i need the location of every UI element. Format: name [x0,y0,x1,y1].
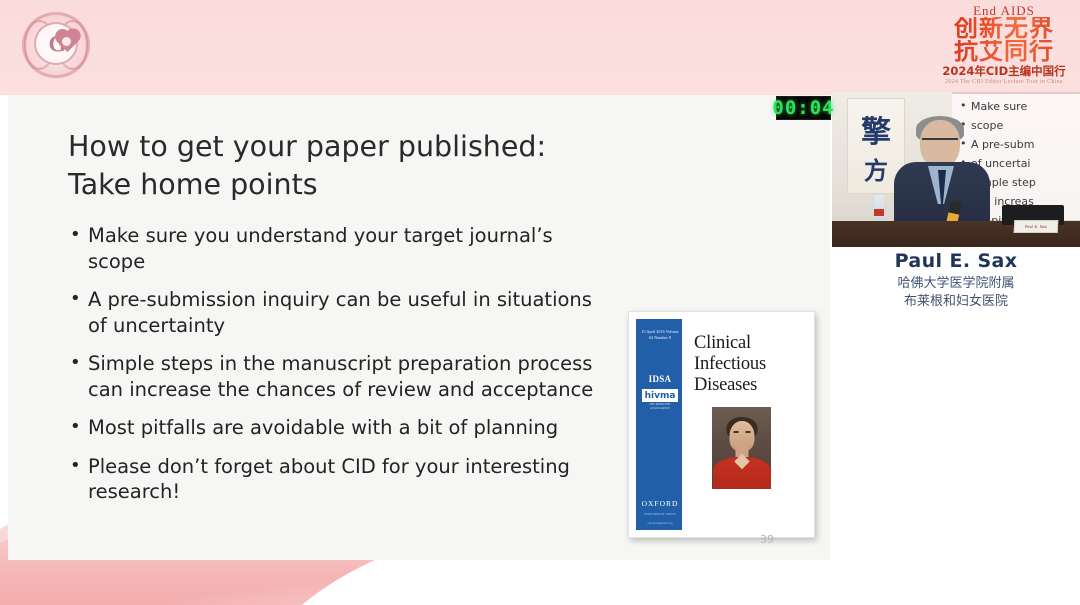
journal-cover-body: 15 April 2016 Volume 62 Number 8 IDSA hi… [636,319,807,530]
speaker-affiliation-line2: 布莱根和妇女医院 [832,293,1080,311]
oxford-logo-subtitle: UNIVERSITY PRESS [641,512,679,516]
journal-title-line1: Clinical [694,333,812,354]
slide-title: How to get your paper published: Take ho… [68,128,708,204]
speaker-video-feed[interactable]: 擎 方 Make sure scope A pre-subm of uncert… [832,92,1080,247]
journal-title-line3: Diseases [694,375,812,396]
journal-issue-info: 15 April 2016 Volume 62 Number 8 [641,329,679,340]
slide-bullet-list: Make sure you understand your target jou… [70,223,610,518]
idsa-logo-icon: IDSA [642,373,678,384]
hivma-logo-icon: hivma [642,389,678,402]
campaign-logo: End AIDS 创新无界 抗艾同行 2024年CID主编中国行 2024 Th… [934,4,1074,88]
journal-title: Clinical Infectious Diseases [694,333,812,396]
page-header: G End AIDS 创新无界 抗艾同行 2024年CID主编中国行 2024 … [0,0,1080,95]
countdown-timer-display: 00:04 [776,96,831,120]
journal-cover-spine: 15 April 2016 Volume 62 Number 8 IDSA hi… [636,319,682,530]
artwork-eyes [733,431,750,433]
journal-cover-artwork [712,407,771,489]
projected-bullet-item: Make sure [960,100,1080,114]
slide-title-line1: How to get your paper published: [68,128,708,166]
campaign-subtitle-en: 2024 The CID Editor Lecture Tour in Chin… [934,78,1074,86]
journal-cover-image: 15 April 2016 Volume 62 Number 8 IDSA hi… [628,311,815,538]
speaker-info-block: Paul E. Sax 哈佛大学医学院附属 布莱根和妇女医院 [832,250,1080,311]
speaker-nameplate: Paul E. Sax [1014,220,1059,233]
campaign-subtitle-cn: 2024年CID主编中国行 [934,64,1074,78]
speaker-name: Paul E. Sax [832,250,1080,272]
calligraphy-character-1: 擎 [861,107,891,151]
slide-bullet-item: Make sure you understand your target jou… [70,223,610,274]
journal-url-text: cid.oxfordjournals.org [641,522,679,525]
oxford-logo-icon: OXFORD [641,499,679,508]
organization-emblem-icon: G [22,12,90,78]
glasses-icon [922,138,958,146]
slide-bullet-item: Simple steps in the manuscript preparati… [70,351,610,402]
heart-cutout-icon [62,37,71,46]
calligraphy-character-2: 方 [864,151,888,186]
journal-title-line2: Infectious [694,354,812,375]
slide-bullet-item: Most pitfalls are avoidable with a bit o… [70,415,610,441]
hivma-logo-subtitle: HIV MEDICINE ASSOCIATION [642,402,678,410]
slide-bullet-item: Please don’t forget about CID for your i… [70,454,610,505]
slide-title-line2: Take home points [68,166,708,204]
slide-number: 39 [760,533,774,546]
speaker-affiliation-line1: 哈佛大学医学院附属 [832,275,1080,293]
presentation-slide[interactable]: How to get your paper published: Take ho… [8,95,830,560]
slide-bullet-item: A pre-submission inquiry can be useful i… [70,287,610,338]
campaign-headline-line2: 抗艾同行 [934,40,1074,63]
